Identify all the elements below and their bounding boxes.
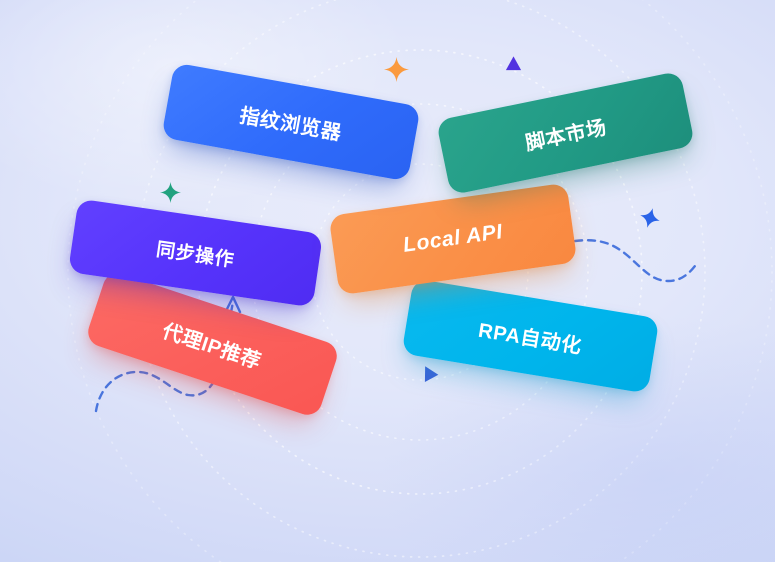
sparkle-orange-icon — [384, 57, 409, 82]
card-label: RPA自动化 — [477, 313, 585, 358]
card-rpa-automation[interactable]: RPA自动化 — [401, 278, 659, 393]
card-script-market[interactable]: 脚本市场 — [436, 71, 695, 196]
triangle-purple-icon — [504, 54, 523, 73]
sparkle-green-icon — [160, 182, 181, 203]
feature-cards-illustration: 代理IP推荐 同步操作 RPA自动化 Local API 指纹浏览器 脚本市场 — [0, 0, 775, 562]
triangle-blue-icon — [416, 360, 442, 386]
dashed-wave-line-icon — [575, 240, 698, 281]
card-label: 同步操作 — [155, 234, 236, 272]
card-local-api[interactable]: Local API — [329, 183, 578, 296]
card-label: Local API — [402, 220, 505, 258]
card-fingerprint-browser[interactable]: 指纹浏览器 — [161, 62, 421, 181]
card-label: 指纹浏览器 — [238, 99, 345, 146]
sparkle-blue-icon — [636, 204, 663, 231]
card-label: 脚本市场 — [522, 111, 609, 156]
card-label: 代理IP推荐 — [159, 314, 265, 374]
